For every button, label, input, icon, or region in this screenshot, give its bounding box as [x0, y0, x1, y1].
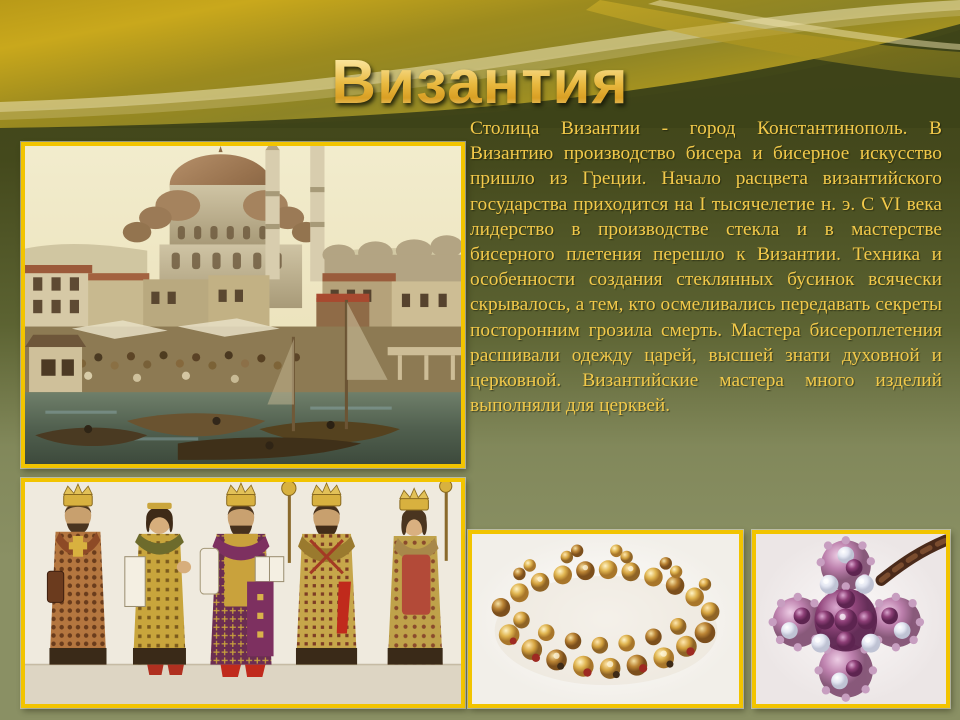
beaded-cross-pendant-photo: [752, 530, 950, 708]
royal-figures-graphic: [25, 482, 461, 704]
byzantine-royalty-image: [25, 482, 461, 704]
constantinople-harbor-image: [25, 146, 461, 464]
body-paragraph: Столица Византии - город Константинополь…: [470, 116, 942, 418]
constantinople-harbor-photo: [21, 142, 465, 468]
beaded-cross-pendant-image: [756, 534, 946, 704]
gold-beaded-bracelet-image: [472, 534, 739, 704]
harbor-scene-graphic: [25, 146, 461, 464]
bracelet-graphic: [472, 534, 739, 704]
gold-beaded-bracelet-photo: [468, 530, 743, 708]
presentation-slide: Византия Столица Византии - город Конста…: [0, 0, 960, 720]
cross-pendant-graphic: [756, 534, 946, 704]
page-title: Византия: [0, 52, 960, 114]
byzantine-royalty-illustration: [21, 478, 465, 708]
